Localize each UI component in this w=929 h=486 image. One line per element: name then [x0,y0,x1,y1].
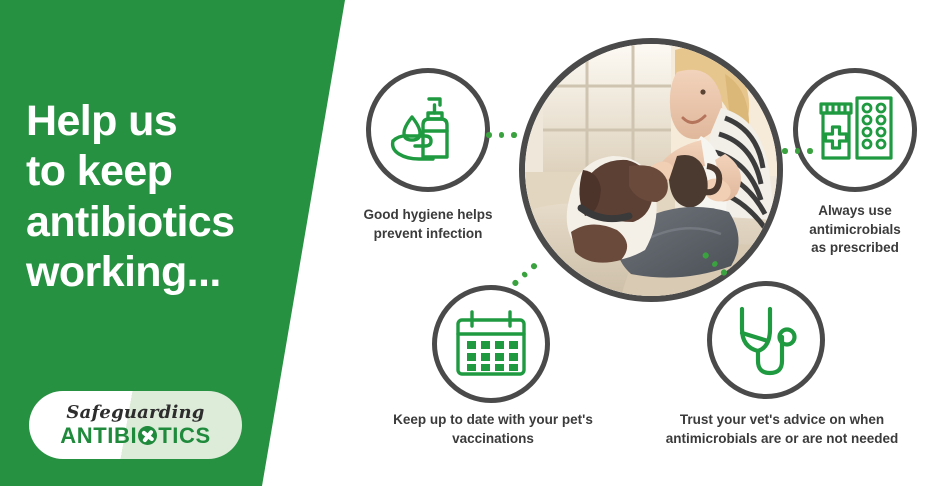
logo-word-after: TICS [158,425,211,447]
pill-bottle-icon [815,92,895,168]
stethoscope-icon [730,303,802,377]
logo-word-before: ANTIBI [60,425,137,447]
connector-center-to-prescribed [782,148,813,154]
infographic-poster: Help us to keep antibiotics working... S… [0,0,929,486]
connector-dot [486,132,492,138]
connector-dot [499,132,505,138]
safeguarding-antibiotics-logo: Safeguarding ANTIBI TICS [29,391,242,459]
connector-dot [782,148,788,154]
icon-circle-prescribed [793,68,917,192]
icon-circle-hygiene [366,68,490,192]
caption-prescribed: Always use antimicrobials as prescribed [775,202,929,258]
connector-dot [807,148,813,154]
photo-image [525,44,777,296]
connector-dot [511,279,519,287]
woman-with-dog-photo [519,38,783,302]
connector-vaccinations-to-center [511,262,537,286]
icon-circle-vaccinations [432,285,550,403]
connector-dot [511,132,517,138]
icon-circle-vet-advice [707,281,825,399]
soap-dispenser-icon [389,91,467,169]
connector-dot [520,271,528,279]
photo-illustration [525,44,777,296]
caption-hygiene: Good hygiene helps prevent infection [316,206,540,243]
connector-dot [795,148,801,154]
logo-wordmark: ANTIBI TICS [60,425,210,447]
caption-vaccinations: Keep up to date with your pet's vaccinat… [368,411,618,448]
connector-hygiene-to-center [486,132,517,138]
calendar-icon [454,310,528,378]
page-title: Help us to keep antibiotics working... [26,96,326,297]
pinwheel-mark-icon [138,426,157,445]
logo-script-text: Safeguarding [66,404,204,422]
connector-dot [530,262,538,270]
caption-vet-advice: Trust your vet's advice on when antimicr… [640,411,924,448]
